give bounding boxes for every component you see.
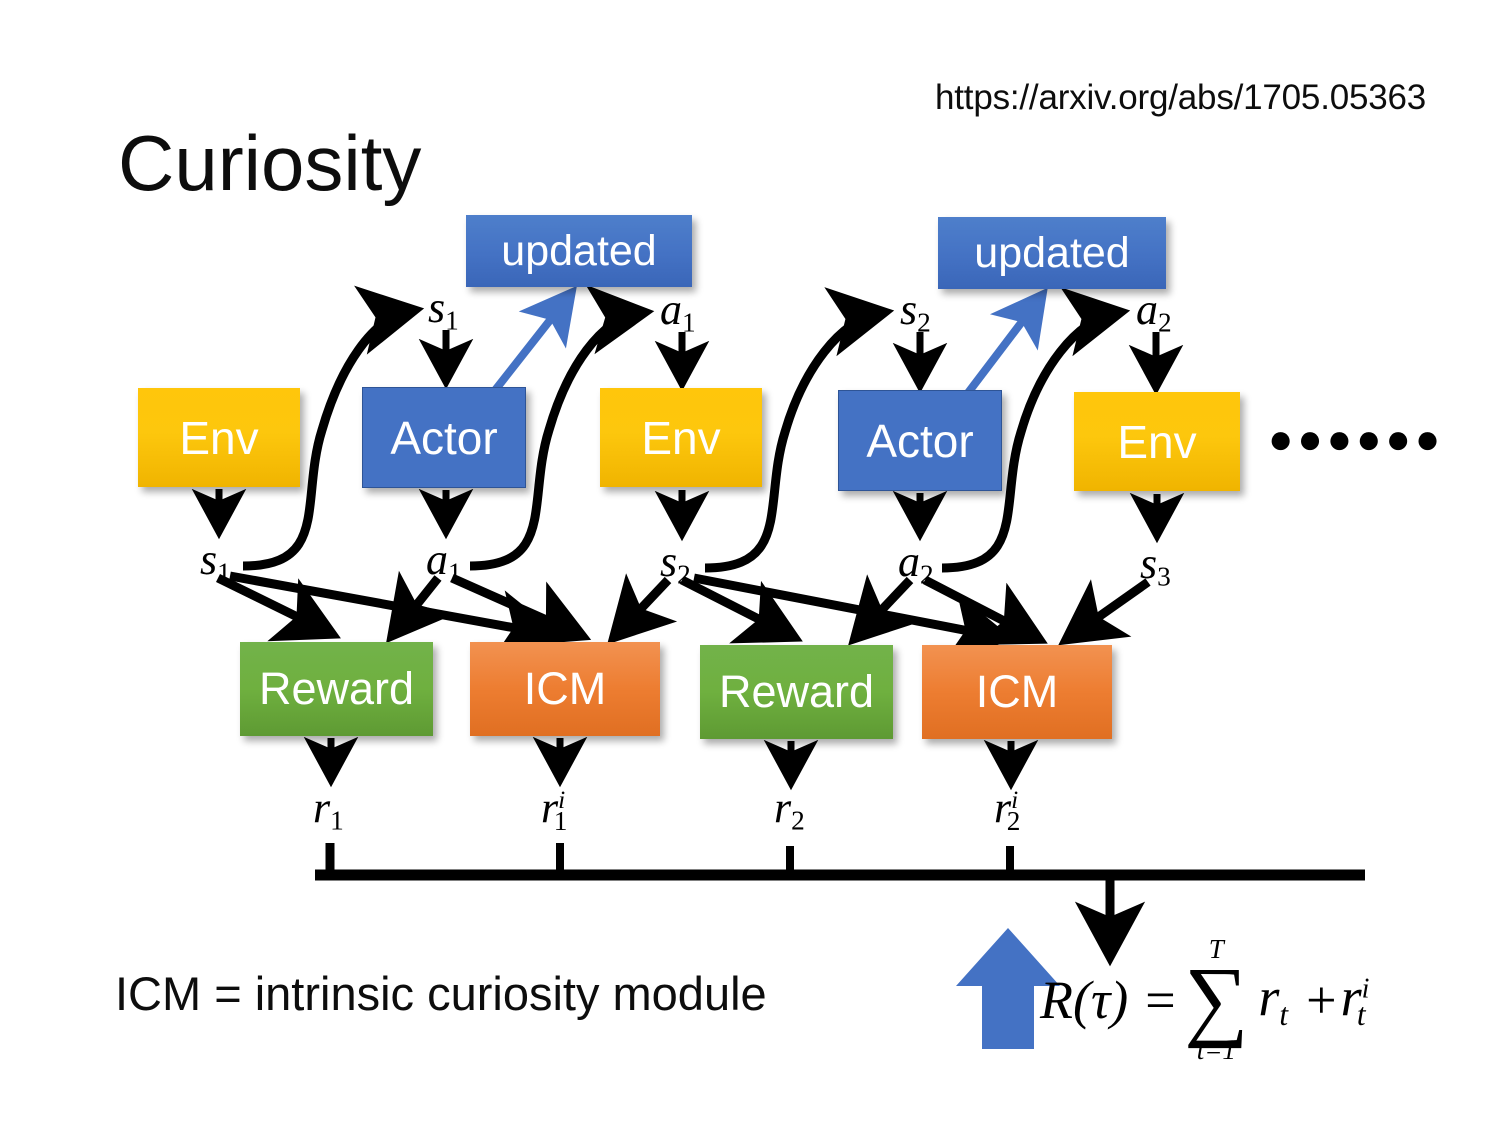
node-updated-1[interactable]: updated — [466, 215, 692, 287]
var-base: s — [900, 285, 917, 334]
var-sub: 2 — [1158, 308, 1172, 338]
formula-plus: + — [1306, 969, 1336, 1031]
node-actor-2[interactable]: Actor — [838, 390, 1002, 491]
var-s2-mid: s2 — [660, 540, 691, 589]
formula-term-1: rt — [1258, 966, 1288, 1033]
node-icm-2[interactable]: ICM — [922, 645, 1112, 739]
continuation-ellipsis: ●●●●●● — [1268, 415, 1444, 463]
term-1-base: r — [1258, 967, 1279, 1027]
term-1-sub: t — [1279, 997, 1288, 1032]
var-base: a — [426, 535, 448, 584]
var-base: s — [1140, 539, 1157, 588]
node-env-3[interactable]: Env — [1074, 392, 1240, 491]
var-sub: 2 — [677, 560, 691, 590]
var-r2-intrinsic: ri2 — [994, 786, 1020, 835]
summation: T ∑ t=1 — [1184, 936, 1248, 1064]
var-sub: 2 — [920, 560, 934, 590]
var-base: s — [428, 283, 445, 332]
var-sub: 1 — [554, 806, 568, 836]
var-a2-top: a2 — [1136, 288, 1172, 337]
node-updated-2[interactable]: updated — [938, 217, 1166, 289]
node-label: updated — [974, 229, 1129, 278]
node-label: ICM — [524, 663, 607, 715]
node-env-2[interactable]: Env — [600, 388, 762, 487]
var-s3-mid: s3 — [1140, 542, 1171, 591]
reward-output-arrows — [331, 738, 1011, 779]
node-label: Actor — [866, 414, 973, 468]
var-base: s — [660, 537, 677, 586]
legend-caption: ICM = intrinsic curiosity module — [115, 966, 767, 1021]
var-r2: r2 — [774, 786, 805, 835]
var-sub: 1 — [448, 558, 462, 588]
node-icm-1[interactable]: ICM — [470, 642, 660, 736]
formula-lhs: R(τ) = — [1040, 969, 1178, 1031]
node-reward-1[interactable]: Reward — [240, 642, 433, 736]
formula-term-2: rit — [1341, 966, 1366, 1033]
var-base: r — [313, 783, 330, 832]
node-reward-2[interactable]: Reward — [700, 645, 893, 739]
var-s2-top: s2 — [900, 288, 931, 337]
sigma-icon: ∑ — [1184, 963, 1248, 1037]
node-env-1[interactable]: Env — [138, 388, 300, 487]
node-actor-1[interactable]: Actor — [362, 387, 526, 488]
var-base: r — [774, 783, 791, 832]
sum-lower-limit: t=1 — [1197, 1037, 1236, 1064]
var-r1: r1 — [313, 786, 344, 835]
var-base: a — [1136, 285, 1158, 334]
var-sub: 2 — [791, 806, 805, 836]
node-label: updated — [501, 227, 656, 276]
var-sub: 2 — [1007, 806, 1021, 836]
var-sub: 1 — [217, 558, 231, 588]
node-label: ICM — [976, 666, 1059, 718]
node-label: Reward — [719, 666, 874, 718]
term-2-sub: t — [1357, 997, 1366, 1032]
var-a1-mid: a1 — [426, 538, 462, 587]
node-label: Env — [1117, 415, 1196, 469]
slide-canvas: https://arxiv.org/abs/1705.05363 Curiosi… — [0, 0, 1500, 1125]
var-s1-top: s1 — [428, 286, 459, 335]
var-base: a — [660, 285, 682, 334]
return-formula: R(τ) = T ∑ t=1 rt + rit — [1040, 936, 1366, 1064]
var-base: s — [200, 535, 217, 584]
var-base: a — [898, 537, 920, 586]
var-sub: 1 — [330, 806, 344, 836]
node-label: Env — [641, 411, 720, 465]
node-label: Actor — [390, 411, 497, 465]
source-url[interactable]: https://arxiv.org/abs/1705.05363 — [935, 78, 1426, 118]
var-sub: 3 — [1157, 562, 1171, 592]
var-s1-mid: s1 — [200, 538, 231, 587]
var-sub: 1 — [445, 306, 459, 336]
var-sub: 1 — [682, 308, 696, 338]
node-label: Env — [179, 411, 258, 465]
page-title: Curiosity — [118, 124, 421, 202]
var-a2-mid: a2 — [898, 540, 934, 589]
var-r1-intrinsic: ri1 — [541, 786, 567, 835]
var-a1-top: a1 — [660, 288, 696, 337]
var-sub: 2 — [917, 308, 931, 338]
node-label: Reward — [259, 663, 414, 715]
